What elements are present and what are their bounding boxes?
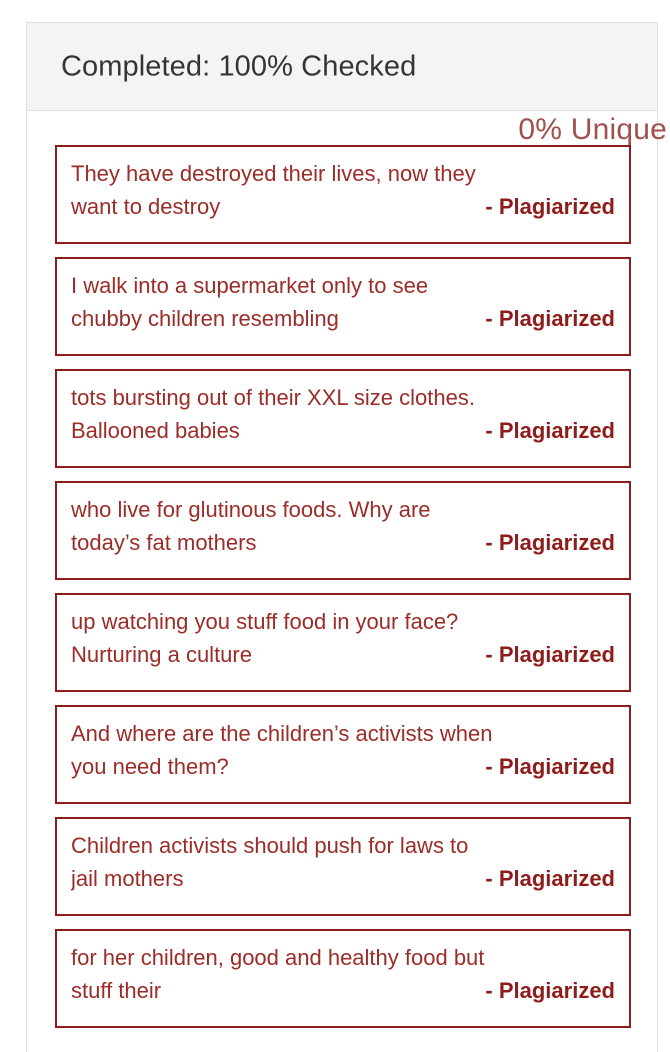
plagiarized-badge: - Plagiarized [485, 974, 615, 1008]
result-text-fragment: Nurturing a culture [71, 638, 262, 672]
result-text-fragment: today’s fat mothers [71, 526, 266, 560]
result-text-line-2: want to destroy- Plagiarized [71, 190, 615, 224]
result-text-fragment: jail mothers [71, 862, 193, 896]
result-text-fragment: you need them? [71, 750, 239, 784]
result-text-line-2: today’s fat mothers- Plagiarized [71, 526, 615, 560]
result-item[interactable]: up watching you stuff food in your face?… [55, 593, 631, 692]
result-text-line-2: you need them?- Plagiarized [71, 750, 615, 784]
unique-percentage-label: 0% Unique [518, 113, 667, 147]
plagiarized-badge: - Plagiarized [485, 638, 615, 672]
result-text-fragment: Ballooned babies [71, 414, 250, 448]
plagiarized-badge: - Plagiarized [485, 414, 615, 448]
result-text-line-2: Ballooned babies- Plagiarized [71, 414, 615, 448]
result-text-line-2: Nurturing a culture- Plagiarized [71, 638, 615, 672]
result-item[interactable]: who live for glutinous foods. Why aretod… [55, 481, 631, 580]
results-list: They have destroyed their lives, now the… [27, 145, 659, 1041]
result-text-line-1: for her children, good and healthy food … [71, 942, 615, 974]
plagiarized-badge: - Plagiarized [485, 750, 615, 784]
result-text-fragment: want to destroy [71, 190, 230, 224]
plagiarized-badge: - Plagiarized [485, 190, 615, 224]
result-text-line-2: stuff their- Plagiarized [71, 974, 615, 1008]
result-item[interactable]: tots bursting out of their XXL size clot… [55, 369, 631, 468]
result-text-line-1: tots bursting out of their XXL size clot… [71, 382, 615, 414]
result-text-line-1: who live for glutinous foods. Why are [71, 494, 615, 526]
result-item[interactable]: for her children, good and healthy food … [55, 929, 631, 1028]
result-text-line-1: up watching you stuff food in your face? [71, 606, 615, 638]
status-header: Completed: 100% Checked [27, 23, 657, 111]
result-text-fragment: stuff their [71, 974, 171, 1008]
results-panel: Completed: 100% Checked 0% Unique They h… [26, 22, 658, 1052]
result-text-line-2: chubby children resembling- Plagiarized [71, 302, 615, 336]
plagiarized-badge: - Plagiarized [485, 862, 615, 896]
result-text-fragment: chubby children resembling [71, 302, 349, 336]
result-item[interactable]: They have destroyed their lives, now the… [55, 145, 631, 244]
completion-status-label: Completed: 100% Checked [61, 50, 416, 83]
result-item[interactable]: I walk into a supermarket only to seechu… [55, 257, 631, 356]
result-text-line-1: They have destroyed their lives, now the… [71, 158, 615, 190]
result-text-line-1: And where are the children’s activists w… [71, 718, 615, 750]
result-item[interactable]: Children activists should push for laws … [55, 817, 631, 916]
result-item[interactable]: And where are the children’s activists w… [55, 705, 631, 804]
result-text-line-2: jail mothers- Plagiarized [71, 862, 615, 896]
plagiarized-badge: - Plagiarized [485, 302, 615, 336]
plagiarized-badge: - Plagiarized [485, 526, 615, 560]
plagiarism-results-page: Completed: 100% Checked 0% Unique They h… [0, 0, 670, 1038]
result-text-line-1: Children activists should push for laws … [71, 830, 615, 862]
result-text-line-1: I walk into a supermarket only to see [71, 270, 615, 302]
